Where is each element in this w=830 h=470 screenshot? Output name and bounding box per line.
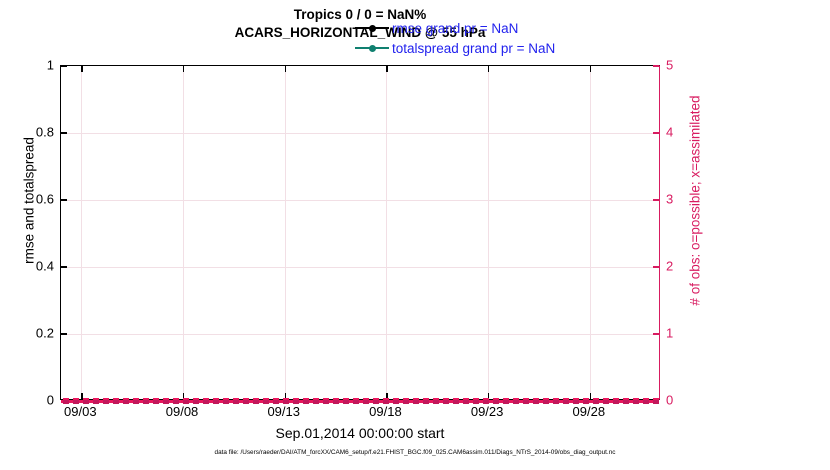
legend-marker-rmse-icon xyxy=(355,22,389,34)
y-axis-left-tick-label: 0.8 xyxy=(36,125,54,140)
y-axis-right-tick-label: 0 xyxy=(666,393,673,408)
y-axis-right-tick xyxy=(653,266,659,267)
x-axis-tick-label: 09/03 xyxy=(64,404,97,419)
grid-line-vertical xyxy=(386,66,387,399)
x-axis-tick-top xyxy=(81,66,82,72)
y-axis-left-tick-label: 0 xyxy=(47,393,54,408)
y-axis-right-tick xyxy=(653,333,659,334)
x-axis-tick xyxy=(183,393,184,399)
y-axis-left-tick xyxy=(61,266,67,267)
x-axis-tick-label: 09/23 xyxy=(471,404,504,419)
y-axis-left-tick xyxy=(61,400,67,401)
y-axis-right-tick-label: 2 xyxy=(666,259,673,274)
x-axis-tick-top xyxy=(386,66,387,72)
y-axis-left-tick-label: 0.2 xyxy=(36,326,54,341)
y-axis-right-tick-label: 5 xyxy=(666,58,673,73)
grid-line-horizontal xyxy=(61,334,659,335)
legend-item-rmse[interactable]: rmse grand pr = NaN xyxy=(355,18,605,38)
x-axis-tick-label: 09/28 xyxy=(573,404,606,419)
x-axis-tick-labels: 09/0309/0809/1309/1809/2309/28 xyxy=(60,404,660,424)
chart-legend: rmse grand pr = NaN totalspread grand pr… xyxy=(355,18,605,58)
y-axis-right-tick-label: 4 xyxy=(666,125,673,140)
y-axis-left-tick xyxy=(61,65,67,66)
grid-line-horizontal xyxy=(61,133,659,134)
legend-item-totalspread[interactable]: totalspread grand pr = NaN xyxy=(355,38,605,58)
grid-line-vertical xyxy=(590,66,591,399)
x-axis-tick-top xyxy=(183,66,184,72)
x-axis-tick-label: 09/18 xyxy=(369,404,402,419)
x-axis-tick-top xyxy=(590,66,591,72)
y-axis-left-title: rmse and totalspread xyxy=(22,41,37,361)
y-axis-right-tick-label: 1 xyxy=(666,326,673,341)
grid-line-vertical xyxy=(488,66,489,399)
y-axis-right-tick xyxy=(653,65,659,66)
x-axis-tick xyxy=(81,393,82,399)
x-axis-tick-top xyxy=(488,66,489,72)
figure-canvas: Tropics 0 / 0 = NaN% ACARS_HORIZONTAL_WI… xyxy=(0,0,830,470)
y-axis-right-tick xyxy=(653,132,659,133)
y-axis-right-tick xyxy=(653,199,659,200)
y-axis-left-tick xyxy=(61,199,67,200)
legend-label-rmse: rmse grand pr = NaN xyxy=(392,21,518,36)
y-axis-right-title: # of obs: o=possible; x=assimilated xyxy=(688,41,703,361)
y-axis-left-tick xyxy=(61,333,67,334)
x-axis-title: Sep.01,2014 00:00:00 start xyxy=(60,425,660,441)
plot-area xyxy=(60,65,660,400)
y-axis-right-tick-label: 3 xyxy=(666,192,673,207)
grid-line-vertical xyxy=(81,66,82,399)
x-axis-tick-label: 09/13 xyxy=(267,404,300,419)
y-axis-left-tick-label: 0.6 xyxy=(36,192,54,207)
obs-series-line xyxy=(61,400,659,403)
x-axis-tick xyxy=(590,393,591,399)
y-axis-left-tick xyxy=(61,132,67,133)
x-axis-tick-top xyxy=(285,66,286,72)
x-axis-tick xyxy=(488,393,489,399)
grid-line-vertical xyxy=(183,66,184,399)
y-axis-left-tick-label: 1 xyxy=(47,58,54,73)
grid-line-vertical xyxy=(285,66,286,399)
y-axis-left-tick-label: 0.4 xyxy=(36,259,54,274)
grid-line-horizontal xyxy=(61,200,659,201)
x-axis-tick-label: 09/08 xyxy=(166,404,199,419)
legend-marker-totalspread-icon xyxy=(355,42,389,54)
data-file-note: data file: /Users/raeder/DAI/ATM_forcXX/… xyxy=(0,449,830,456)
x-axis-tick xyxy=(285,393,286,399)
y-axis-right-tick xyxy=(653,400,659,401)
x-axis-tick xyxy=(386,393,387,399)
legend-label-totalspread: totalspread grand pr = NaN xyxy=(392,41,555,56)
grid-line-horizontal xyxy=(61,267,659,268)
